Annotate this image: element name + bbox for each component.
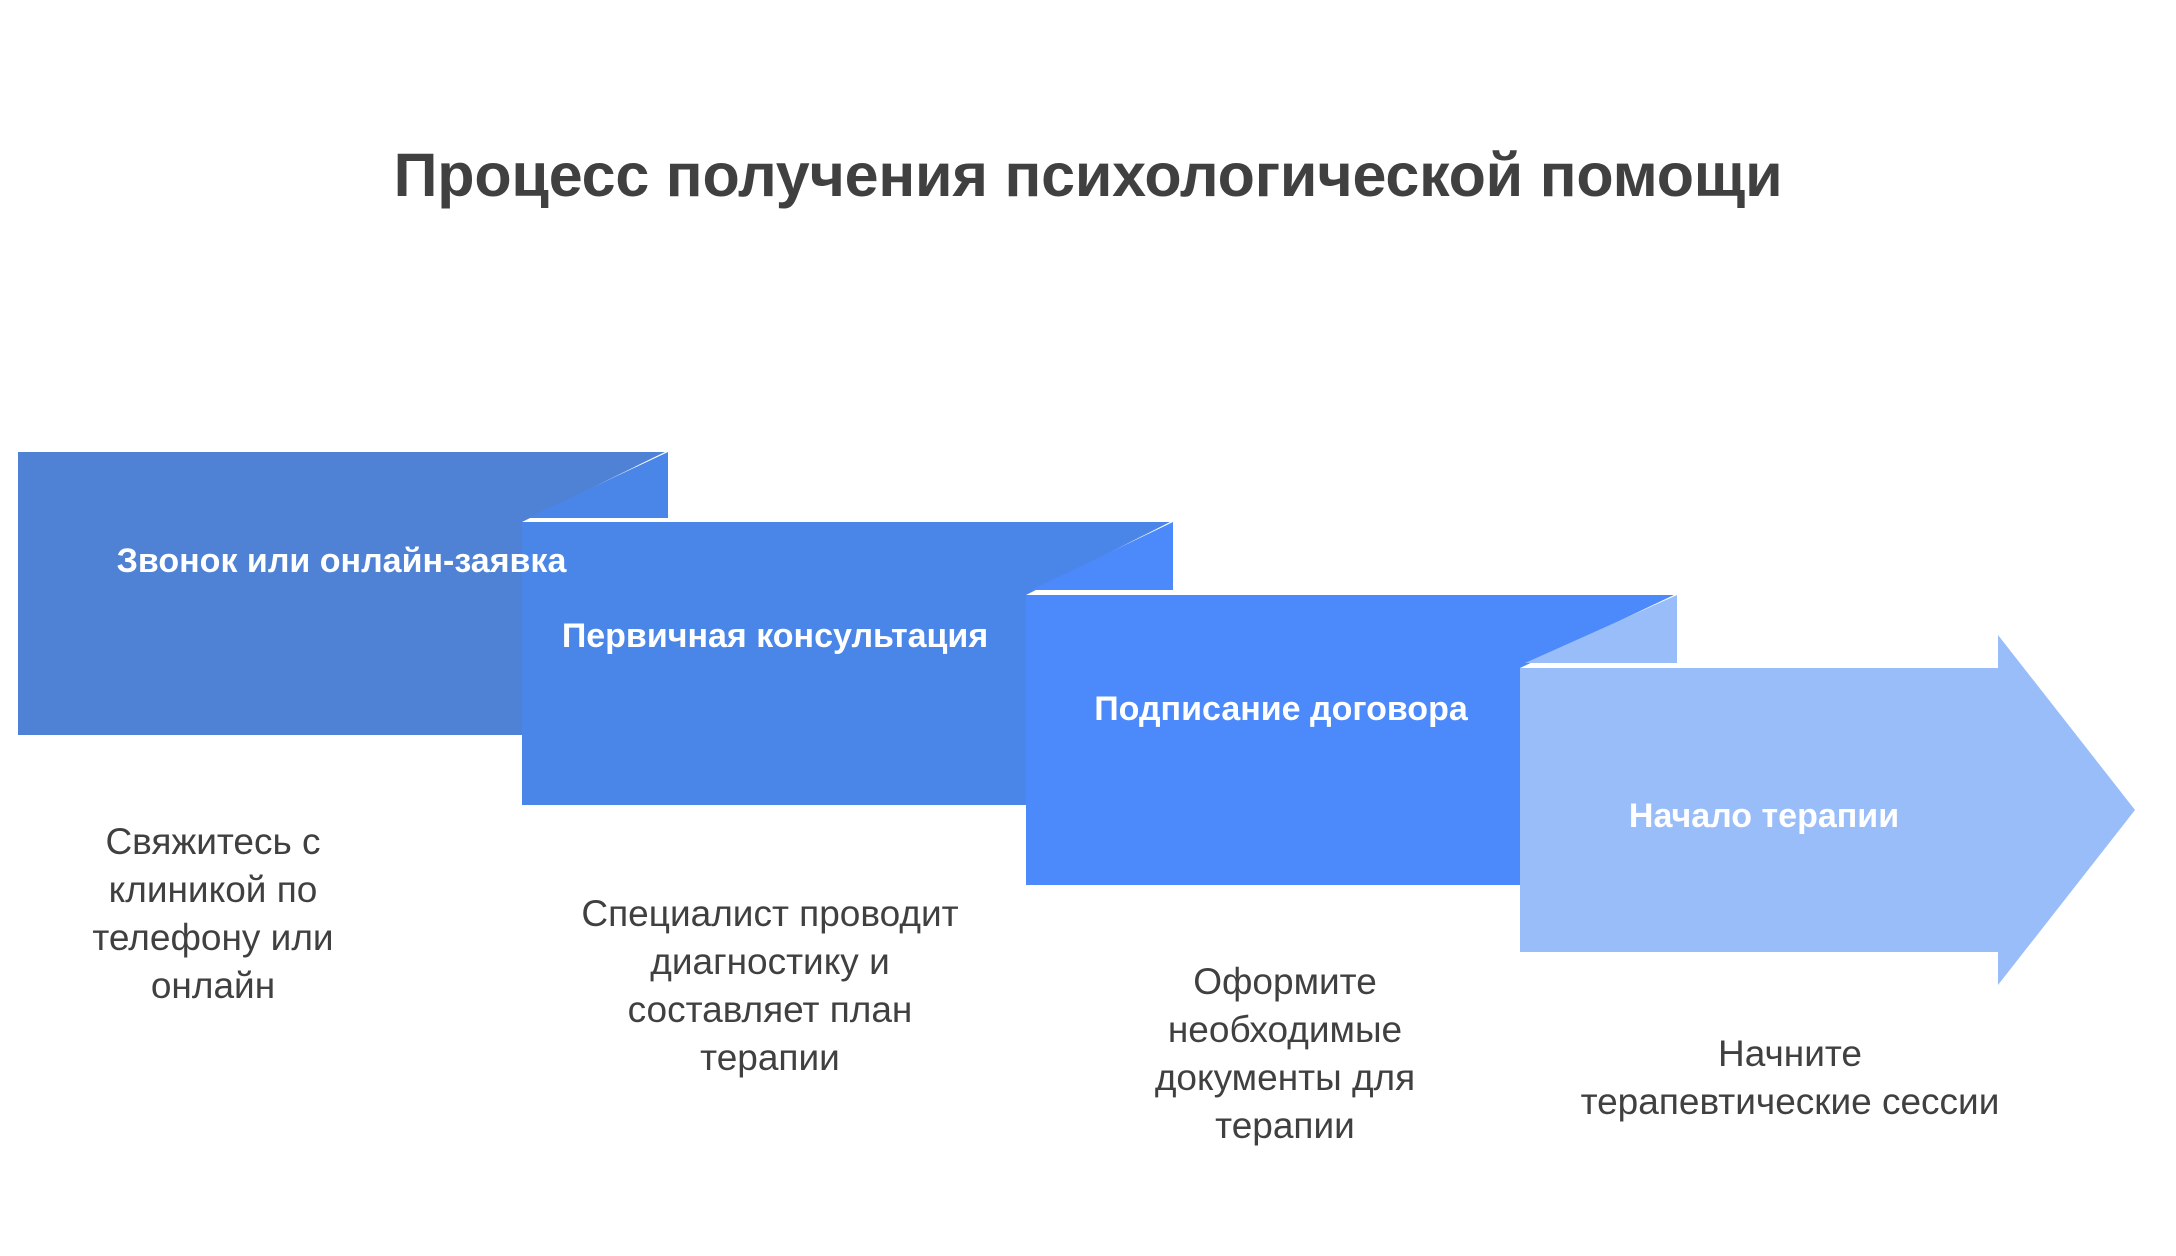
process-flow-diagram bbox=[0, 0, 2176, 1256]
slide-canvas: Процесс получения психологической помощи… bbox=[0, 0, 2176, 1256]
step-shape-4[interactable] bbox=[1520, 635, 2135, 985]
process-flow-shapes bbox=[0, 0, 2176, 1256]
